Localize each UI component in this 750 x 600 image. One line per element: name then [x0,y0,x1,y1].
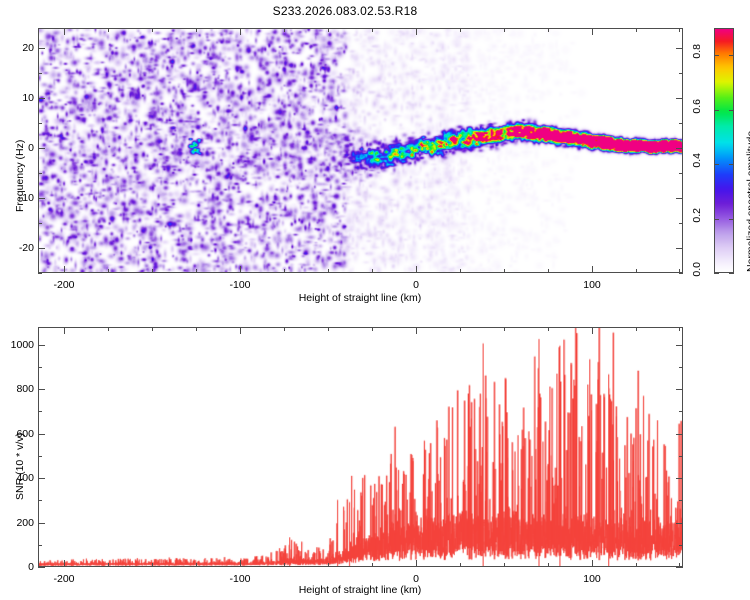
tick-mark [38,411,42,412]
tick-mark [196,28,197,32]
tick-mark [416,560,417,567]
tick-mark [714,219,719,220]
tick-mark [152,327,153,331]
tick-mark [416,28,417,35]
tick-mark [592,560,593,567]
tick-mark [38,273,42,274]
tick-mark [152,28,153,32]
snr-x-tick: 100 [583,573,601,585]
spectrogram-y-tick: 10 [12,92,34,104]
tick-mark [240,28,241,35]
spectrogram-canvas [39,29,682,272]
tick-mark [38,98,45,99]
tick-mark [460,28,461,32]
tick-mark [372,563,373,567]
snr-x-axis-label: Height of straight line (km) [299,584,422,596]
tick-mark [64,266,65,273]
tick-mark [38,173,42,174]
colorbar-tick: 0.8 [691,44,703,66]
tick-mark [38,567,45,568]
tick-mark [592,266,593,273]
spectrogram-y-axis-label: Frequency (Hz) [14,140,26,212]
tick-mark [152,269,153,273]
snr-y-axis-label: SNR (10 * v/v) [14,433,26,500]
tick-mark [679,456,683,457]
tick-mark [284,269,285,273]
tick-mark [676,198,683,199]
tick-mark [328,28,329,32]
colorbar-tick: 0.4 [691,153,703,175]
tick-mark [38,478,45,479]
tick-mark [416,266,417,273]
tick-mark [38,523,45,524]
tick-mark [729,110,734,111]
spectrogram-x-tick: 0 [413,279,419,291]
tick-mark [676,98,683,99]
tick-mark [676,434,683,435]
tick-mark [108,28,109,32]
snr-y-tick: 800 [4,383,34,395]
tick-mark [636,563,637,567]
spectrogram-x-axis-label: Height of straight line (km) [299,292,422,304]
colorbar[interactable] [714,28,734,273]
tick-mark [372,28,373,32]
tick-mark [679,223,683,224]
tick-mark [460,327,461,331]
tick-mark [372,269,373,273]
tick-mark [548,563,549,567]
figure-root: S233.2026.083.02.53.R18 -200-1000100-20-… [0,0,750,600]
tick-mark [729,219,734,220]
tick-mark [679,500,683,501]
spectrogram-x-tick: -100 [229,279,250,291]
tick-mark [38,389,45,390]
tick-mark [284,327,285,331]
tick-mark [38,223,42,224]
page-title: S233.2026.083.02.53.R18 [0,4,690,18]
colorbar-tick: 0.0 [691,262,703,284]
tick-mark [714,55,719,56]
snr-x-tick: -100 [229,573,250,585]
tick-mark [679,73,683,74]
snr-plot-area[interactable] [38,327,683,567]
tick-mark [38,500,42,501]
tick-mark [679,411,683,412]
spectrogram-x-tick: -200 [53,279,74,291]
tick-mark [714,164,719,165]
tick-mark [38,148,45,149]
spectrogram-x-tick: 100 [583,279,601,291]
tick-mark [676,389,683,390]
colorbar-tick: 0.6 [691,99,703,121]
tick-mark [284,563,285,567]
snr-y-tick: 0 [4,561,34,573]
tick-mark [729,273,734,274]
tick-mark [240,327,241,334]
tick-mark [714,110,719,111]
tick-mark [372,327,373,331]
tick-mark [636,327,637,331]
tick-mark [679,327,680,331]
tick-mark [64,28,65,35]
tick-mark [504,327,505,331]
snr-y-tick: 1000 [4,339,34,351]
tick-mark [676,567,683,568]
colorbar-title: Normalized spectral amplitude [745,131,750,272]
tick-mark [636,269,637,273]
tick-mark [729,55,734,56]
tick-mark [108,269,109,273]
tick-mark [548,28,549,32]
tick-mark [548,327,549,331]
tick-mark [679,367,683,368]
tick-mark [460,269,461,273]
spectrogram-y-tick: -20 [12,242,34,254]
tick-mark [196,269,197,273]
tick-mark [196,327,197,331]
tick-mark [38,434,45,435]
snr-x-tick: -200 [53,573,74,585]
tick-mark [714,273,719,274]
tick-mark [548,269,549,273]
tick-mark [240,560,241,567]
tick-mark [38,198,45,199]
spectrogram-plot-area[interactable] [38,28,683,273]
tick-mark [679,173,683,174]
tick-mark [676,148,683,149]
tick-mark [38,456,42,457]
tick-mark [679,28,680,32]
tick-mark [38,73,42,74]
tick-mark [416,327,417,334]
tick-mark [729,164,734,165]
tick-mark [592,28,593,35]
tick-mark [38,345,45,346]
tick-mark [504,269,505,273]
tick-mark [592,327,593,334]
tick-mark [676,345,683,346]
tick-mark [679,545,683,546]
tick-mark [38,123,42,124]
tick-mark [504,563,505,567]
tick-mark [38,248,45,249]
tick-mark [676,478,683,479]
tick-mark [636,28,637,32]
snr-canvas [39,328,682,566]
snr-y-tick: 200 [4,517,34,529]
tick-mark [676,48,683,49]
tick-mark [196,563,197,567]
tick-mark [679,123,683,124]
tick-mark [38,48,45,49]
tick-mark [284,28,285,32]
tick-mark [108,327,109,331]
tick-mark [64,327,65,334]
tick-mark [679,273,683,274]
tick-mark [38,545,42,546]
tick-mark [504,28,505,32]
colorbar-tick: 0.2 [691,208,703,230]
tick-mark [676,523,683,524]
tick-mark [240,266,241,273]
spectrogram-y-tick: 20 [12,42,34,54]
tick-mark [38,367,42,368]
tick-mark [152,563,153,567]
tick-mark [676,248,683,249]
tick-mark [460,563,461,567]
tick-mark [328,327,329,331]
tick-mark [108,563,109,567]
tick-mark [64,560,65,567]
tick-mark [328,563,329,567]
tick-mark [328,269,329,273]
colorbar-gradient [715,29,733,272]
